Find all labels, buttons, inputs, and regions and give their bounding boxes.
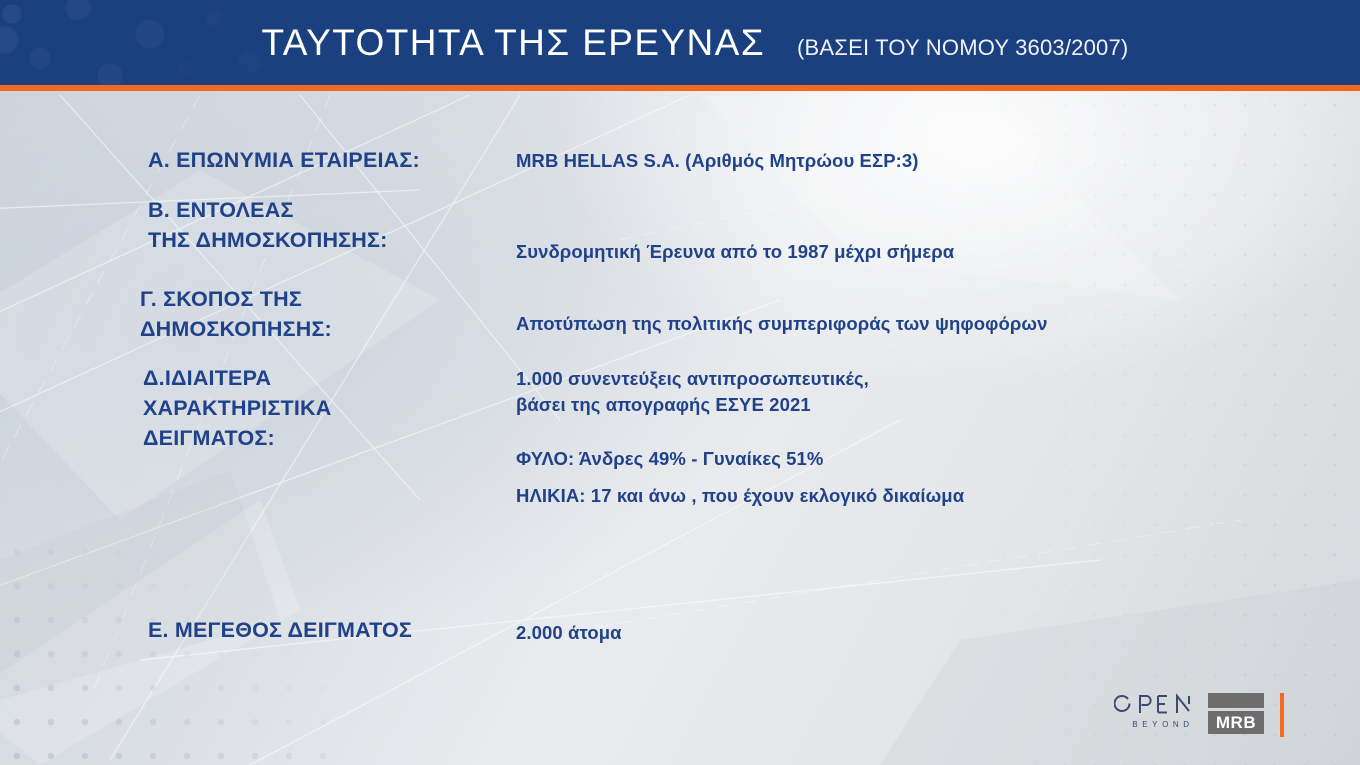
label-purpose: Γ. ΣΚΟΠΟΣ ΤΗΣ ΔΗΜΟΣΚΟΠΗΣΗΣ: (140, 284, 332, 344)
open-logo-tagline: BEYOND (1116, 720, 1210, 729)
footer-accent-tick (1280, 693, 1284, 737)
header-band: ΤΑΥΤΟΤΗΤΑ ΤΗΣ ΕΡΕΥΝΑΣ (ΒΑΣΕΙ ΤΟΥ ΝΟΜΟΥ 3… (0, 0, 1360, 85)
open-logo-icon (1114, 693, 1210, 715)
value-sample-size: 2.000 άτομα (516, 620, 622, 646)
page-title: ΤΑΥΤΟΤΗΤΑ ΤΗΣ ΕΡΕΥΝΑΣ (262, 22, 765, 64)
value-sample-characteristics: 1.000 συνεντεύξεις αντιπροσωπευτικές, βά… (516, 366, 869, 418)
content-area: Α. ΕΠΩΝΥΜΙΑ ΕΤΑΙΡΕΙΑΣ: MRB HELLAS S.A. (… (0, 91, 1360, 765)
value-purpose: Αποτύπωση της πολιτικής συμπεριφοράς των… (516, 311, 1048, 337)
label-sample-size: Ε. ΜΕΓΕΘΟΣ ΔΕΙΓΜΑΤΟΣ (148, 615, 412, 645)
open-beyond-logo: BEYOND (1114, 693, 1210, 735)
open-wordmark-icon (1114, 693, 1206, 715)
value-client: Συνδρομητική Έρευνα από το 1987 μέχρι σή… (516, 239, 954, 265)
page-subtitle: (ΒΑΣΕΙ ΤΟΥ ΝΟΜΟΥ 3603/2007) (797, 35, 1128, 61)
mrb-logo: MRB (1208, 693, 1268, 739)
label-sample-characteristics: Δ.ΙΔΙΑΙΤΕΡΑ ΧΑΡΑΚΤΗΡΙΣΤΙΚΑ ΔΕΙΓΜΑΤΟΣ: (143, 363, 332, 453)
value-sample-age: ΗΛΙΚΙΑ: 17 και άνω , που έχουν εκλογικό … (516, 483, 964, 509)
mrb-logo-text: MRB (1216, 714, 1256, 731)
label-company-name: Α. ΕΠΩΝΥΜΙΑ ΕΤΑΙΡΕΙΑΣ: (148, 145, 420, 175)
label-client: Β. ΕΝΤΟΛΕΑΣ ΤΗΣ ΔΗΜΟΣΚΟΠΗΣΗΣ: (148, 195, 387, 255)
mrb-logo-block: MRB (1208, 711, 1264, 734)
value-sample-gender: ΦΥΛΟ: Άνδρες 49% - Γυναίκες 51% (516, 446, 823, 472)
value-company-name: MRB HELLAS S.A. (Αριθμός Μητρώου ΕΣΡ:3) (516, 148, 919, 174)
header-title-group: ΤΑΥΤΟΤΗΤΑ ΤΗΣ ΕΡΕΥΝΑΣ (ΒΑΣΕΙ ΤΟΥ ΝΟΜΟΥ 3… (0, 0, 1360, 85)
footer-logos: BEYOND MRB (1100, 685, 1360, 765)
slide-root: ΤΑΥΤΟΤΗΤΑ ΤΗΣ ΕΡΕΥΝΑΣ (ΒΑΣΕΙ ΤΟΥ ΝΟΜΟΥ 3… (0, 0, 1360, 765)
mrb-logo-bar (1208, 693, 1264, 708)
